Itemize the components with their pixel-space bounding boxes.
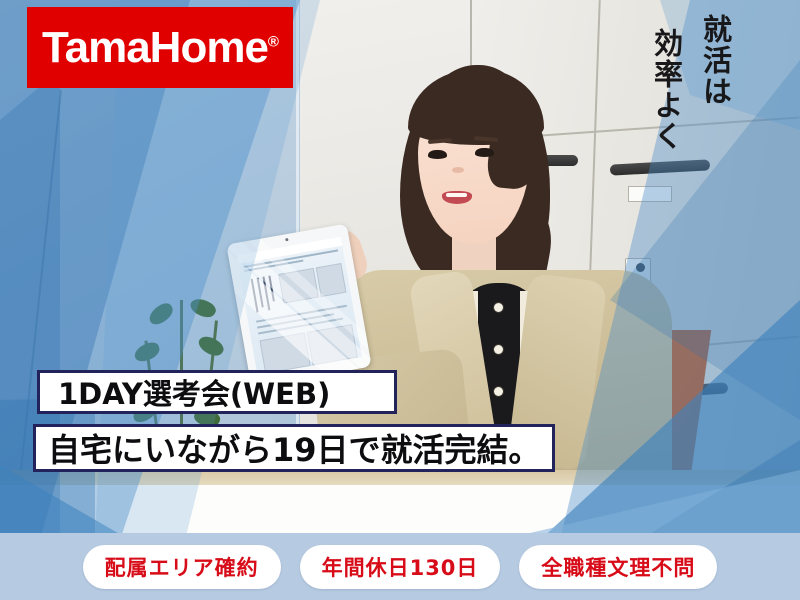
headline-box-primary: 1DAY選考会(WEB) — [37, 370, 397, 414]
registered-mark-icon: ® — [268, 33, 278, 50]
badge-annual-holidays[interactable]: 年間休日130日 — [300, 545, 501, 589]
vertical-tagline-line-2: 効率よく — [651, 28, 681, 152]
headline-box-secondary: 自宅にいながら19日で就活完結。 — [33, 424, 555, 472]
tablet-device — [226, 224, 371, 388]
logo-text: TamaHome® — [42, 26, 278, 70]
tamahome-logo: TamaHome® — [27, 7, 293, 88]
badge-all-majors[interactable]: 全職種文理不問 — [519, 545, 717, 589]
benefits-badge-bar: 配属エリア確約 年間休日130日 全職種文理不問 — [0, 533, 800, 600]
badge-area-guarantee[interactable]: 配属エリア確約 — [83, 545, 281, 589]
logo-wordmark: TamaHome — [42, 23, 268, 72]
desk-white-top — [0, 485, 800, 540]
vertical-tagline-line-1: 就活は — [700, 14, 730, 107]
recruitment-poster: TamaHome® 就活は 効率よく 1DAY選考会(WEB) 自宅にいながら1… — [0, 0, 800, 600]
